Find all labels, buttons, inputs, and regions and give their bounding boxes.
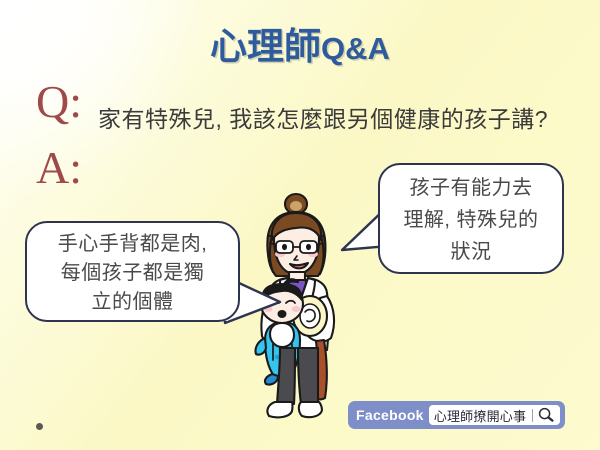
page-title-en: Q&A <box>321 31 390 66</box>
facebook-page-pill[interactable]: 心理師撩開心事 <box>429 405 560 425</box>
question-label: Q: <box>36 79 82 125</box>
facebook-badge[interactable]: Facebook 心理師撩開心事 <box>348 401 565 429</box>
bubble-right-line-2: 理解, 特殊兒的 <box>380 204 562 236</box>
stray-dot <box>36 423 43 430</box>
bubble-left-line-3: 立的個體 <box>27 288 238 317</box>
bubble-right-line-3: 狀況 <box>380 236 562 268</box>
facebook-page-name: 心理師撩開心事 <box>434 406 526 425</box>
divider <box>532 409 533 422</box>
question-text: 家有特殊兒, 我該怎麼跟另個健康的孩子講? <box>98 100 548 134</box>
speech-bubble-left: 手心手背都是肉, 每個孩子都是獨 立的個體 <box>25 221 240 322</box>
magnifying-glass-icon[interactable] <box>538 407 554 423</box>
bubble-left-line-2: 每個孩子都是獨 <box>27 259 238 288</box>
facebook-label: Facebook <box>353 407 429 423</box>
page-title-zh: 心理師 <box>210 26 321 67</box>
page-title: 心理師Q&A <box>0 16 600 70</box>
infographic-canvas: 心理師Q&A Q: 家有特殊兒, 我該怎麼跟另個健康的孩子講? A: 手心手背都… <box>0 0 600 450</box>
speech-bubble-right: 孩子有能力去 理解, 特殊兒的 狀況 <box>378 163 564 274</box>
bubble-right-line-1: 孩子有能力去 <box>380 172 562 204</box>
bubble-left-line-1: 手心手背都是肉, <box>27 230 238 259</box>
answer-label: A: <box>36 145 82 191</box>
